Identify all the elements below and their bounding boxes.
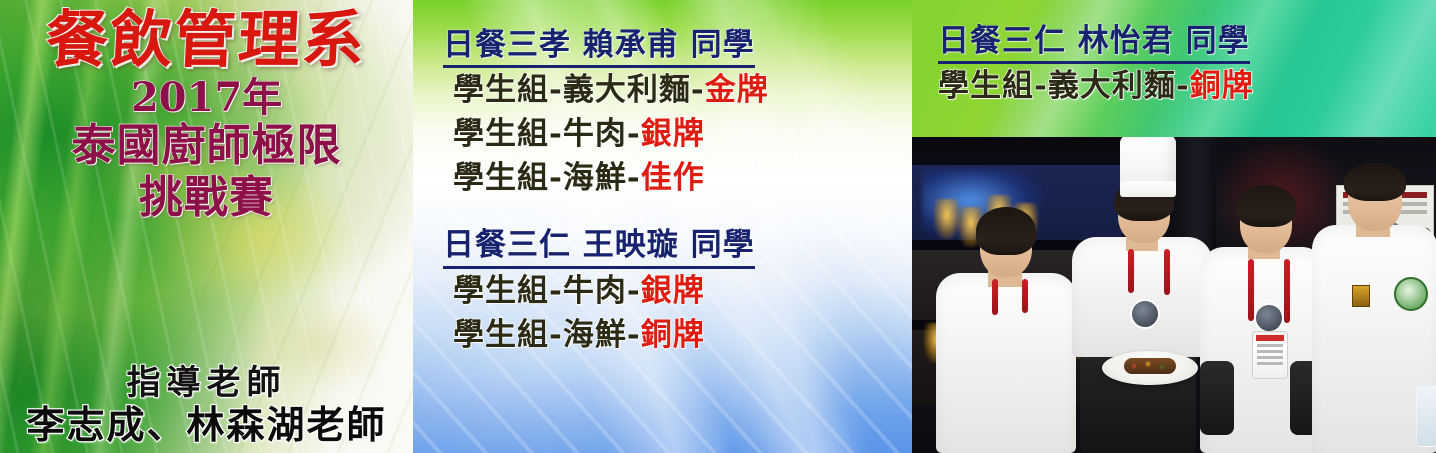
event-name-line-1: 泰國廚師極限 xyxy=(72,121,342,170)
award-line: 學生組-義大利麵-銅牌 xyxy=(938,64,1436,108)
award-group: 日餐三仁 王映璇 同學 學生組-牛肉-銀牌 學生組-海鮮-銅牌 xyxy=(413,226,912,356)
award-category: 學生組-牛肉- xyxy=(453,273,641,309)
hair xyxy=(1344,163,1406,201)
award-line: 學生組-海鮮-佳作 xyxy=(443,156,912,200)
chef-hat xyxy=(1120,137,1176,197)
event-year: 2017年 xyxy=(131,77,282,119)
chef-coat xyxy=(1072,237,1212,357)
lanyard xyxy=(1284,259,1290,323)
award-medal: 金牌 xyxy=(705,72,769,108)
department-title: 餐飲管理系 xyxy=(45,8,368,71)
award-medal: 銀牌 xyxy=(641,116,705,152)
plated-dish xyxy=(1124,358,1176,374)
hair xyxy=(976,207,1036,255)
hair xyxy=(1236,185,1296,227)
team-photo xyxy=(912,137,1436,453)
chef-person-4 xyxy=(1312,163,1436,453)
award-line: 學生組-牛肉-銀牌 xyxy=(443,269,912,313)
award-medal: 銅牌 xyxy=(641,317,705,353)
award-category: 學生組-義大利麵- xyxy=(453,72,705,108)
left-title-panel: 餐飲管理系 2017年 泰國廚師極限 挑戰賽 指導老師 李志成、林森湖老師 xyxy=(0,0,413,453)
lanyard xyxy=(1128,249,1134,293)
lanyard xyxy=(992,279,998,315)
award-line: 學生組-海鮮-銅牌 xyxy=(443,313,912,357)
award-medal: 佳作 xyxy=(641,160,705,196)
chef-coat xyxy=(936,273,1076,453)
chef-person-1 xyxy=(936,213,1076,453)
uniform-badge xyxy=(1254,303,1284,333)
serving-plate xyxy=(1102,351,1198,385)
advisor-label: 指導老師 xyxy=(0,364,413,403)
id-badge xyxy=(1252,331,1288,379)
event-name-line-2: 挑戰賽 xyxy=(139,173,274,222)
award-line: 學生組-牛肉-銀牌 xyxy=(443,112,912,156)
award-category: 學生組-海鮮- xyxy=(453,317,641,353)
award-category: 學生組-牛肉- xyxy=(453,116,641,152)
chef-person-2 xyxy=(1072,153,1212,453)
left-panel-content: 餐飲管理系 2017年 泰國廚師極限 挑戰賽 指導老師 李志成、林森湖老師 xyxy=(0,0,413,453)
green-logo-badge xyxy=(1394,277,1428,311)
lanyard xyxy=(1164,249,1170,295)
dark-sleeve xyxy=(1200,361,1234,435)
advisor-block: 指導老師 李志成、林森湖老師 xyxy=(0,364,413,447)
middle-awards-panel: 日餐三孝 賴承甫 同學 學生組-義大利麵-金牌 學生組-牛肉-銀牌 學生組-海鮮… xyxy=(413,0,912,453)
student-heading: 日餐三孝 賴承甫 同學 xyxy=(443,26,755,68)
award-medal: 銅牌 xyxy=(1190,68,1254,104)
award-category: 學生組-海鮮- xyxy=(453,160,641,196)
award-group: 日餐三孝 賴承甫 同學 學生組-義大利麵-金牌 學生組-牛肉-銀牌 學生組-海鮮… xyxy=(413,26,912,200)
competition-results-banner: 餐飲管理系 2017年 泰國廚師極限 挑戰賽 指導老師 李志成、林森湖老師 日餐… xyxy=(0,0,1436,453)
gold-emblem xyxy=(1352,285,1370,307)
middle-panel-content: 日餐三孝 賴承甫 同學 學生組-義大利麵-金牌 學生組-牛肉-銀牌 學生組-海鮮… xyxy=(413,0,912,453)
uniform-badge xyxy=(1130,299,1160,329)
lanyard xyxy=(1248,259,1254,321)
water-bottle xyxy=(1416,385,1436,447)
lanyard xyxy=(1022,279,1028,313)
advisor-names: 李志成、林森湖老師 xyxy=(0,403,413,447)
right-award-block: 日餐三仁 林怡君 同學 學生組-義大利麵-銅牌 xyxy=(912,0,1436,108)
right-photo-panel: 日餐三仁 林怡君 同學 學生組-義大利麵-銅牌 xyxy=(912,0,1436,453)
award-medal: 銀牌 xyxy=(641,273,705,309)
student-heading: 日餐三仁 林怡君 同學 xyxy=(938,22,1250,64)
award-line: 學生組-義大利麵-金牌 xyxy=(443,68,912,112)
award-category: 學生組-義大利麵- xyxy=(938,68,1190,104)
student-heading: 日餐三仁 王映璇 同學 xyxy=(443,226,755,268)
